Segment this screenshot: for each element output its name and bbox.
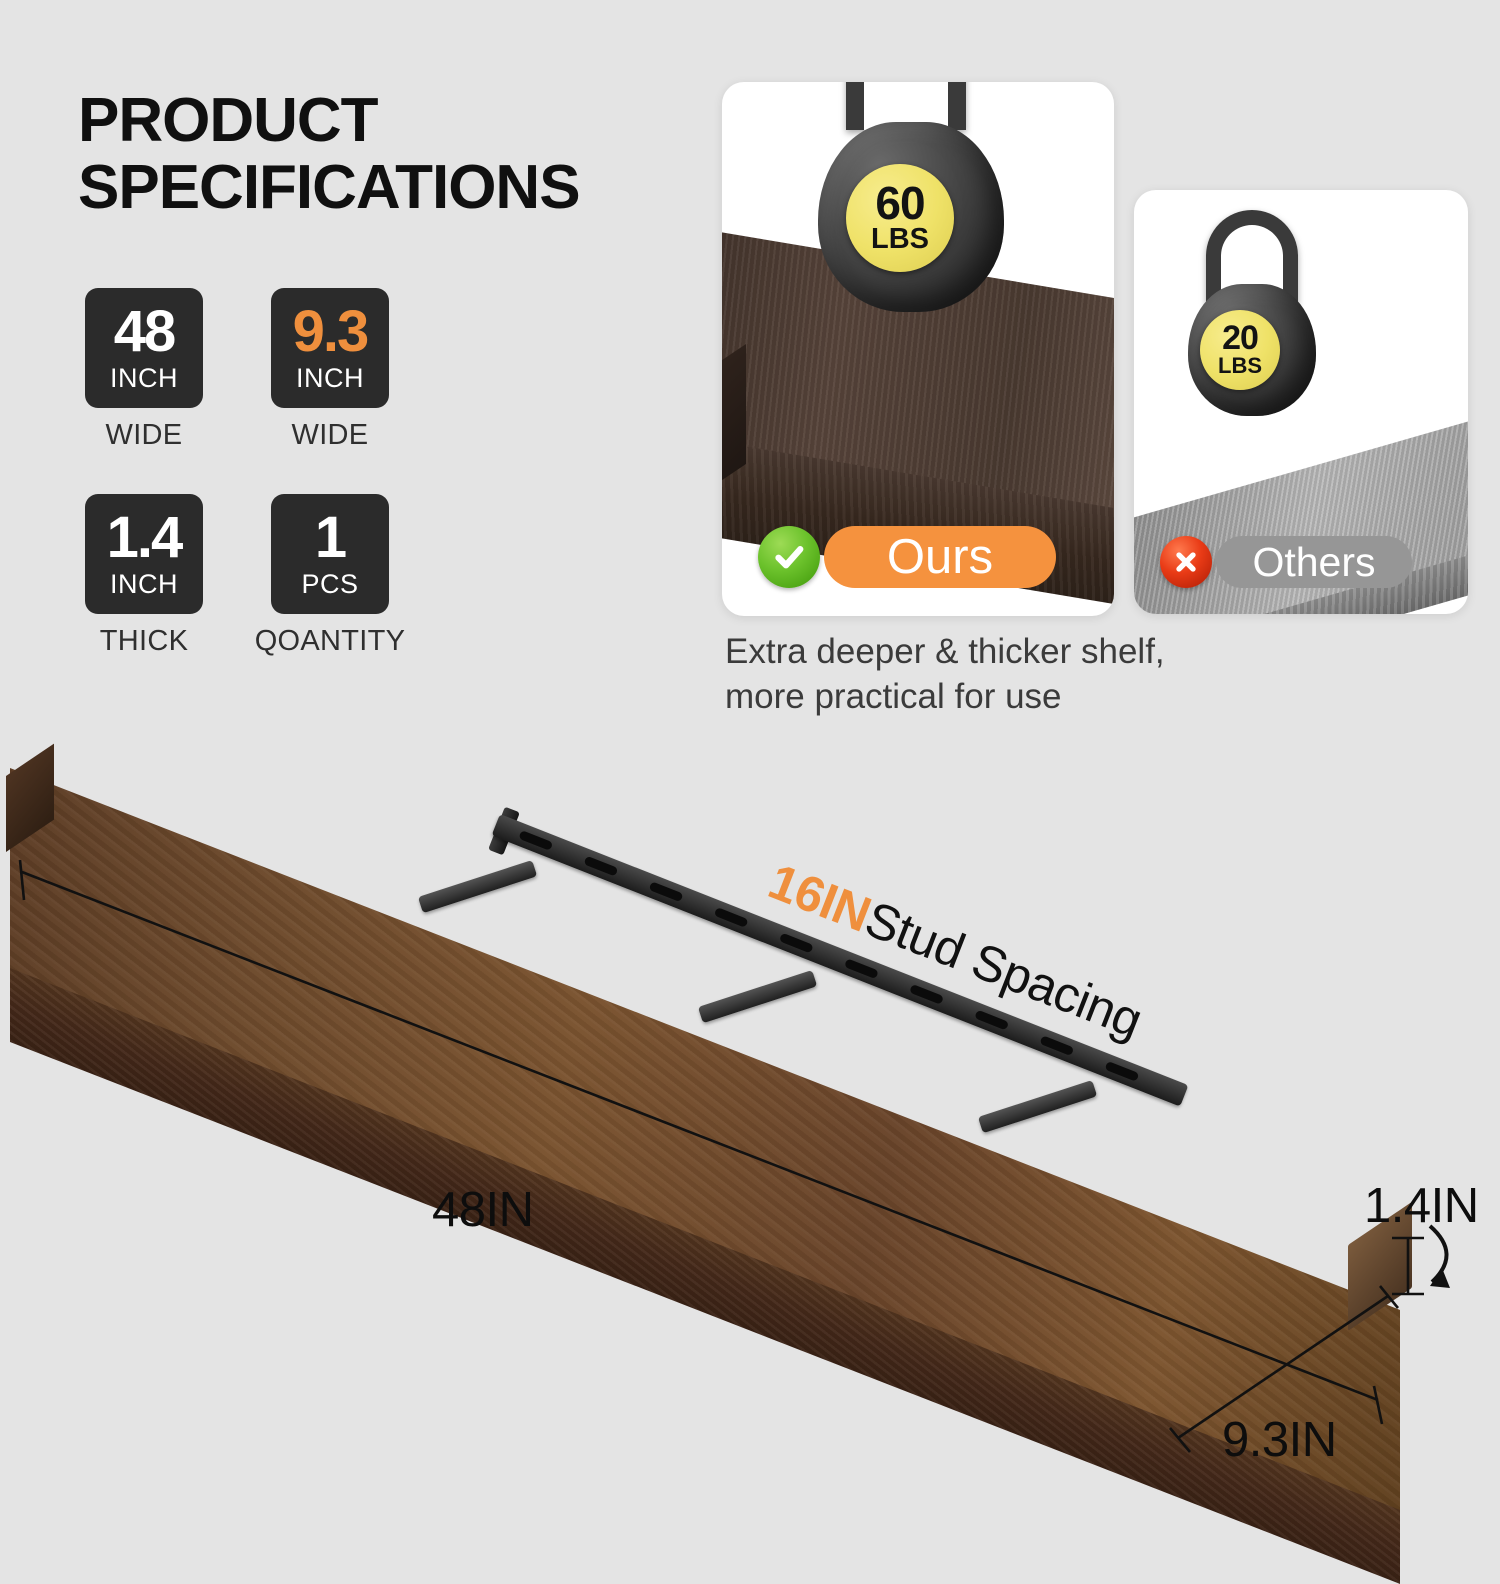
page-title: PRODUCT SPECIFICATIONS <box>78 88 718 222</box>
spec-value: 1 <box>315 512 345 564</box>
spec-item-width-length: 48 INCH WIDE <box>84 288 204 452</box>
spec-caption: QOANTITY <box>255 625 406 658</box>
spec-tile: 9.3 INCH <box>271 288 389 408</box>
weight-unit: LBS <box>1218 355 1262 377</box>
product-photo <box>0 740 1500 1500</box>
spec-value: 1.4 <box>107 512 182 564</box>
kettlebell-60lbs-icon: 60 LBS <box>802 82 1010 322</box>
dimension-label-depth: 9.3IN <box>1222 1412 1337 1468</box>
specifications-grid: 48 INCH WIDE 9.3 INCH WIDE 1.4 INCH THIC… <box>84 288 504 700</box>
spec-tile: 1 PCS <box>271 494 389 614</box>
spec-item-quantity: 1 PCS QOANTITY <box>270 494 390 658</box>
verdict-ours: Ours <box>758 526 1056 588</box>
comparison-card-ours: 60 LBS Ours <box>722 82 1114 616</box>
spec-value: 9.3 <box>293 306 368 358</box>
spec-caption: WIDE <box>106 419 183 452</box>
shelf-top-surface <box>10 768 1400 1516</box>
weight-value: 60 <box>875 182 924 224</box>
dimension-label-thickness: 1.4IN <box>1364 1178 1479 1234</box>
floating-shelf-board <box>0 740 1500 1500</box>
weight-value: 20 <box>1222 323 1258 354</box>
x-circle-icon <box>1160 536 1212 588</box>
spec-caption: THICK <box>100 625 189 658</box>
spec-tile: 48 INCH <box>85 288 203 408</box>
spec-unit: INCH <box>296 365 364 392</box>
spec-caption: WIDE <box>292 419 369 452</box>
verdict-label-others: Others <box>1216 536 1412 588</box>
comparison-caption-line1: Extra deeper & thicker shelf, <box>725 630 1325 675</box>
check-circle-icon <box>758 526 820 588</box>
spec-unit: INCH <box>110 365 178 392</box>
spec-item-width-depth: 9.3 INCH WIDE <box>270 288 390 452</box>
verdict-label-ours: Ours <box>824 526 1056 588</box>
verdict-others: Others <box>1160 536 1412 588</box>
spec-item-thickness: 1.4 INCH THICK <box>84 494 204 658</box>
page-title-line2: SPECIFICATIONS <box>78 155 718 222</box>
spec-unit: INCH <box>110 571 178 598</box>
weight-badge: 60 LBS <box>846 164 954 272</box>
comparison-caption-line2: more practical for use <box>725 675 1325 720</box>
page-title-line1: PRODUCT <box>78 86 378 155</box>
weight-unit: LBS <box>871 225 929 254</box>
specifications-row-1: 48 INCH WIDE 9.3 INCH WIDE <box>84 288 504 452</box>
specifications-row-2: 1.4 INCH THICK 1 PCS QOANTITY <box>84 494 504 658</box>
weight-badge: 20 LBS <box>1200 310 1280 390</box>
kettlebell-20lbs-icon: 20 LBS <box>1176 204 1326 416</box>
spec-tile: 1.4 INCH <box>85 494 203 614</box>
dimension-label-length: 48IN <box>432 1182 534 1238</box>
spec-value: 48 <box>114 306 175 358</box>
comparison-caption: Extra deeper & thicker shelf, more pract… <box>725 630 1325 720</box>
spec-unit: PCS <box>301 571 358 598</box>
comparison-card-others: 20 LBS Others <box>1134 190 1468 614</box>
